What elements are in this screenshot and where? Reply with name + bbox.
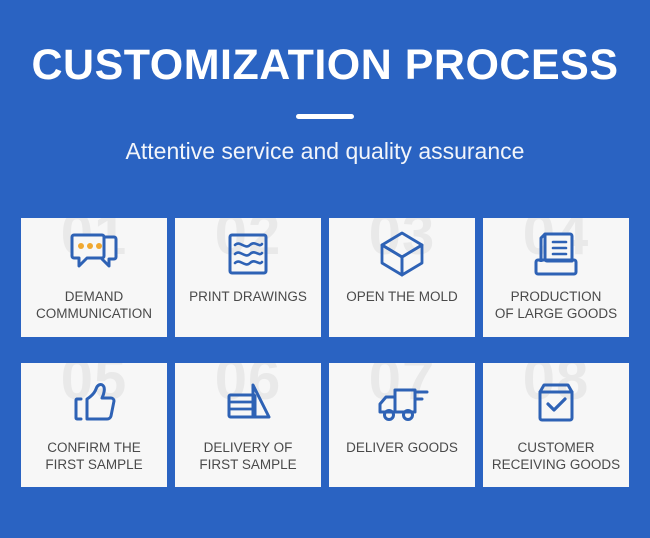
process-step-card[interactable]: 01 DEMAND COMMUNICATION bbox=[21, 218, 167, 337]
step-label: PRINT DRAWINGS bbox=[185, 289, 311, 306]
step-label: DELIVERY OF FIRST SAMPLE bbox=[195, 440, 300, 474]
process-step-card[interactable]: 05 CONFIRM THE FIRST SAMPLE bbox=[21, 363, 167, 487]
process-step-card[interactable]: 07 DELIVER GOODS bbox=[329, 363, 475, 487]
title-divider-wrap bbox=[0, 114, 650, 119]
process-step-card[interactable]: 08 CUSTOMER RECEIVING GOODS bbox=[483, 363, 629, 487]
customization-process-banner: CUSTOMIZATION PROCESS Attentive service … bbox=[0, 0, 650, 538]
process-step-card[interactable]: 04 PRODUCTION OF LARGE GOODS bbox=[483, 218, 629, 337]
cube-icon bbox=[378, 228, 426, 280]
drawing-waves-icon bbox=[226, 228, 270, 280]
page-subtitle: Attentive service and quality assurance bbox=[0, 140, 650, 163]
process-step-card[interactable]: 06 DELIVERY OF FIRST SAMPLE bbox=[175, 363, 321, 487]
step-label: OPEN THE MOLD bbox=[342, 289, 462, 306]
step-label: CUSTOMER RECEIVING GOODS bbox=[488, 440, 624, 474]
box-check-icon bbox=[533, 377, 579, 429]
delivery-truck-icon bbox=[375, 377, 429, 429]
step-label: DELIVER GOODS bbox=[342, 440, 462, 457]
chat-bubbles-icon bbox=[69, 228, 119, 280]
document-tray-icon bbox=[532, 228, 580, 280]
step-label: PRODUCTION OF LARGE GOODS bbox=[491, 289, 621, 323]
process-step-card[interactable]: 03 OPEN THE MOLD bbox=[329, 218, 475, 337]
step-label: DEMAND COMMUNICATION bbox=[32, 289, 156, 323]
step-label: CONFIRM THE FIRST SAMPLE bbox=[41, 440, 146, 474]
process-steps-grid: 01 DEMAND COMMUNICATION 02 bbox=[21, 218, 629, 487]
banner-header: CUSTOMIZATION PROCESS Attentive service … bbox=[0, 0, 650, 163]
title-divider bbox=[296, 114, 354, 119]
process-step-card[interactable]: 02 PRINT DRAWINGS bbox=[175, 218, 321, 337]
thumbs-up-icon bbox=[71, 377, 117, 429]
paper-plane-icon bbox=[223, 377, 273, 429]
page-title: CUSTOMIZATION PROCESS bbox=[0, 44, 650, 87]
